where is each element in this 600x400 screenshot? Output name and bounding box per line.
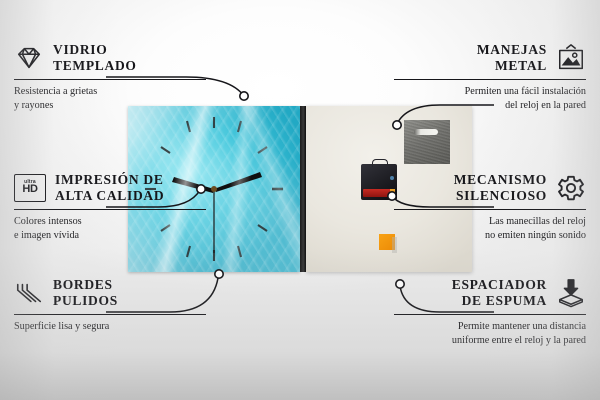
feature-description-line-1: Permite mantener una distancia (394, 320, 586, 334)
feature-divider (394, 79, 586, 80)
ultra-hd-icon-bottom-label: HD (22, 184, 37, 195)
feature-title: MANEJAS METAL (477, 42, 547, 74)
feature-title-line-1: VIDRIO (53, 42, 137, 58)
feature-title-line-2: TEMPLADO (53, 58, 137, 74)
feature-title: MECANISMO SILENCIOSO (454, 172, 547, 204)
feature-divider (14, 314, 206, 315)
feature-description: Colores intensos e imagen vívida (14, 215, 206, 242)
feature-description-line-1: Colores intensos (14, 215, 206, 229)
feature-description: Resistencia a grietas y rayones (14, 85, 206, 112)
feature-header: ESPACIADOR DE ESPUMA (394, 277, 586, 309)
feature-title-line-2: METAL (477, 58, 547, 74)
connector-dot-glass (240, 92, 248, 100)
feature-title: BORDES PULIDOS (53, 277, 118, 309)
gear-icon (556, 173, 586, 203)
feature-divider (14, 209, 206, 210)
feature-description-line-2: no emiten ningún sonido (394, 229, 586, 243)
feature-header: BORDES PULIDOS (14, 277, 206, 309)
feature-metal-hooks: MANEJAS METAL Permiten una fácil instala… (394, 42, 586, 113)
feature-description-line-2: del reloj en la pared (394, 99, 586, 113)
feature-header: MECANISMO SILENCIOSO (394, 172, 586, 204)
feature-title-line-1: MANEJAS (477, 42, 547, 58)
feature-title-line-2: PULIDOS (53, 293, 118, 309)
feature-title-line-2: ALTA CALIDAD (55, 188, 164, 204)
feature-hd-print: ultra HD IMPRESIÓN DE ALTA CALIDAD Color… (14, 172, 206, 243)
feature-description-line-1: Permiten una fácil instalación (394, 85, 586, 99)
feature-title-line-1: MECANISMO (454, 172, 547, 188)
feature-description-line-1: Resistencia a grietas (14, 85, 206, 99)
feature-title-line-1: BORDES (53, 277, 118, 293)
feature-divider (394, 209, 586, 210)
feature-description-line-2: uniforme entre el reloj y la pared (394, 334, 586, 348)
mechanism-hook-tab (372, 159, 388, 167)
feature-title-line-2: SILENCIOSO (454, 188, 547, 204)
polished-edges-icon (14, 278, 44, 308)
feature-description: Permite mantener una distancia uniforme … (394, 320, 586, 347)
feature-divider (14, 79, 206, 80)
metal-hanger-plate (404, 120, 450, 164)
feature-description-line-2: y rayones (14, 99, 206, 113)
ultra-hd-icon: ultra HD (14, 174, 46, 202)
wall-frame-hook-icon (556, 43, 586, 73)
feature-silent-mechanism: MECANISMO SILENCIOSO Las manecillas del … (394, 172, 586, 243)
feature-header: MANEJAS METAL (394, 42, 586, 74)
feature-title: VIDRIO TEMPLADO (53, 42, 137, 74)
feature-description-line-1: Las manecillas del reloj (394, 215, 586, 229)
feature-title-line-1: IMPRESIÓN DE (55, 172, 164, 188)
product-infographic: VIDRIO TEMPLADO Resistencia a grietas y … (0, 0, 600, 400)
foam-spacer-icon (556, 278, 586, 308)
battery (363, 189, 393, 197)
feature-title: IMPRESIÓN DE ALTA CALIDAD (55, 172, 164, 204)
feature-foam-spacer: ESPACIADOR DE ESPUMA Permite mantener un… (394, 277, 586, 348)
feature-description: Permiten una fácil instalación del reloj… (394, 85, 586, 112)
feature-header: ultra HD IMPRESIÓN DE ALTA CALIDAD (14, 172, 206, 204)
feature-description-line-2: e imagen vívida (14, 229, 206, 243)
silent-clock-mechanism (361, 164, 397, 200)
feature-divider (394, 314, 586, 315)
feature-description: Superficie lisa y segura (14, 320, 206, 334)
orange-foam-spacer (379, 234, 395, 250)
feature-polished-edges: BORDES PULIDOS Superficie lisa y segura (14, 277, 206, 334)
feature-description-line-1: Superficie lisa y segura (14, 320, 206, 334)
hanger-slot (414, 129, 438, 135)
feature-title-line-2: DE ESPUMA (452, 293, 547, 309)
feature-tempered-glass: VIDRIO TEMPLADO Resistencia a grietas y … (14, 42, 206, 113)
feature-title-line-1: ESPACIADOR (452, 277, 547, 293)
feature-title: ESPACIADOR DE ESPUMA (452, 277, 547, 309)
diamond-icon (14, 43, 44, 73)
feature-description: Las manecillas del reloj no emiten ningú… (394, 215, 586, 242)
feature-header: VIDRIO TEMPLADO (14, 42, 206, 74)
